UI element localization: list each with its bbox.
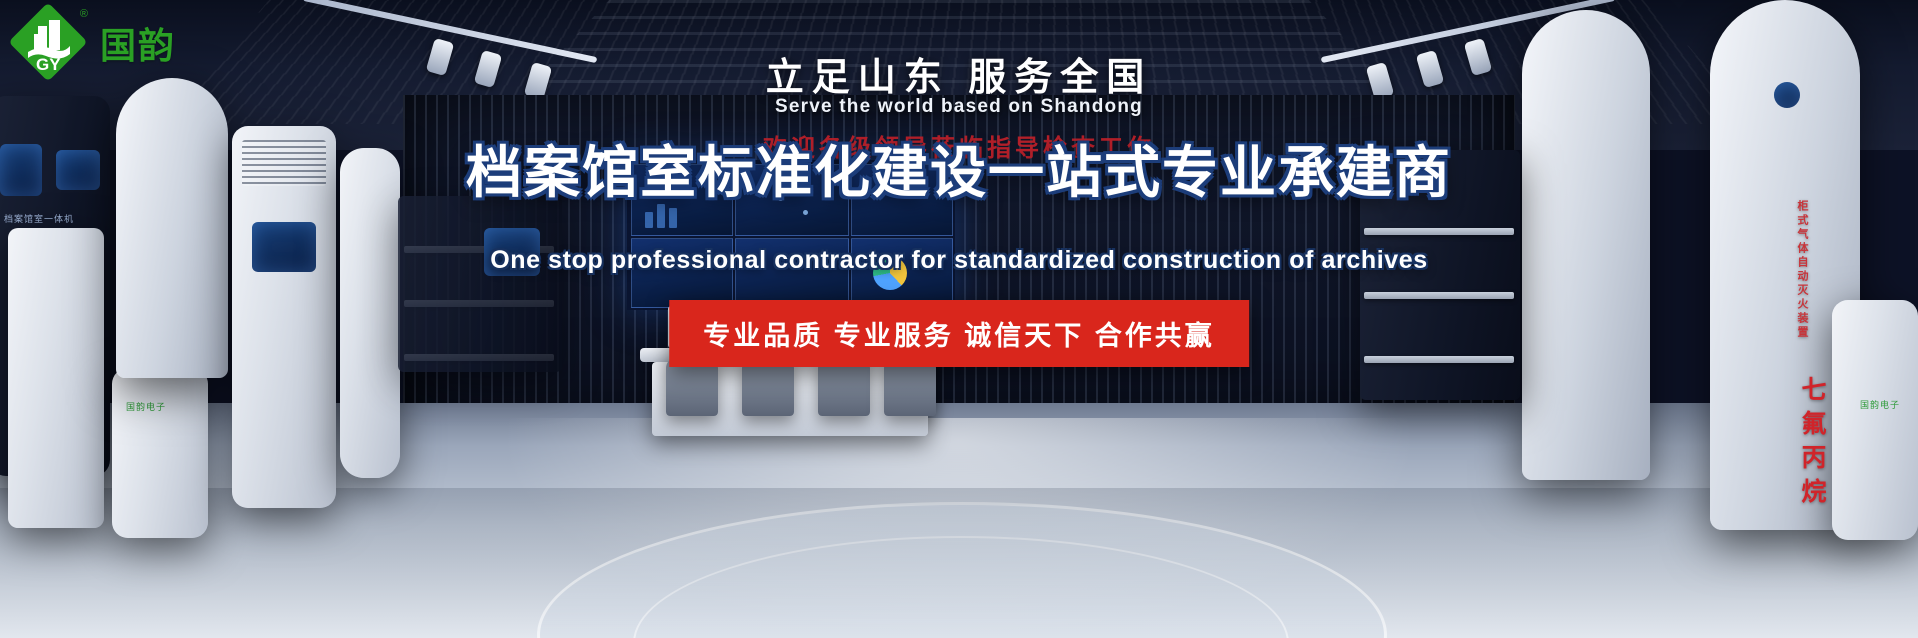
hero-headline-cn: 档案馆室标准化建设一站式专业承建商 [0,128,1918,209]
hero-banner: 档案馆室一体机 国韵电子 国韵电子 七氟丙烷 柜式气体自动灭火装置 [0,0,1918,638]
registered-mark-icon: ® [80,8,88,20]
hero-headline-en: One stop professional contractor for sta… [0,246,1918,275]
hero-text-overlay: GY ® 国韵 立足山东 服务全国 Serve the world based … [0,0,1918,638]
hero-cta-banner[interactable]: 专业品质 专业服务 诚信天下 合作共赢 [669,300,1249,367]
hero-tagline-en: Serve the world based on Shandong [0,96,1918,118]
hero-tagline-cn: 立足山东 服务全国 [0,46,1918,101]
